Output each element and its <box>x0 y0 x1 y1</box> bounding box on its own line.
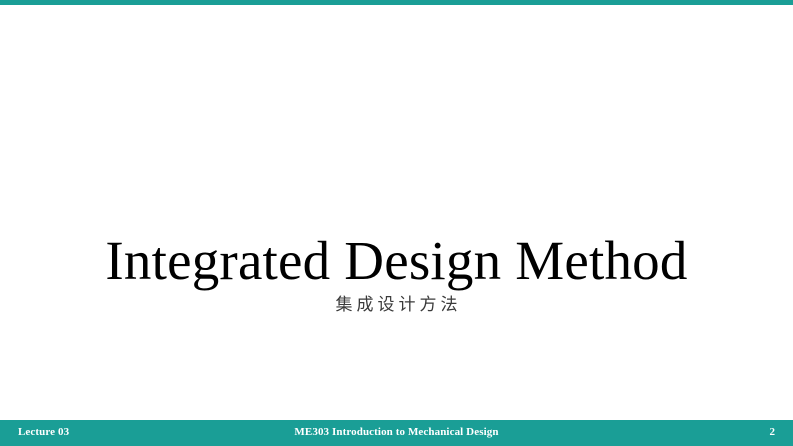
title-block: Integrated Design Method 集成设计方法 <box>0 231 793 317</box>
top-accent-bar <box>0 0 793 5</box>
presentation-slide: Integrated Design Method 集成设计方法 Lecture … <box>0 0 793 446</box>
footer-bar: Lecture 03 ME303 Introduction to Mechani… <box>0 420 793 446</box>
page-subtitle: 集成设计方法 <box>0 293 793 317</box>
page-title: Integrated Design Method <box>0 231 793 291</box>
footer-page-number: 2 <box>0 426 775 438</box>
